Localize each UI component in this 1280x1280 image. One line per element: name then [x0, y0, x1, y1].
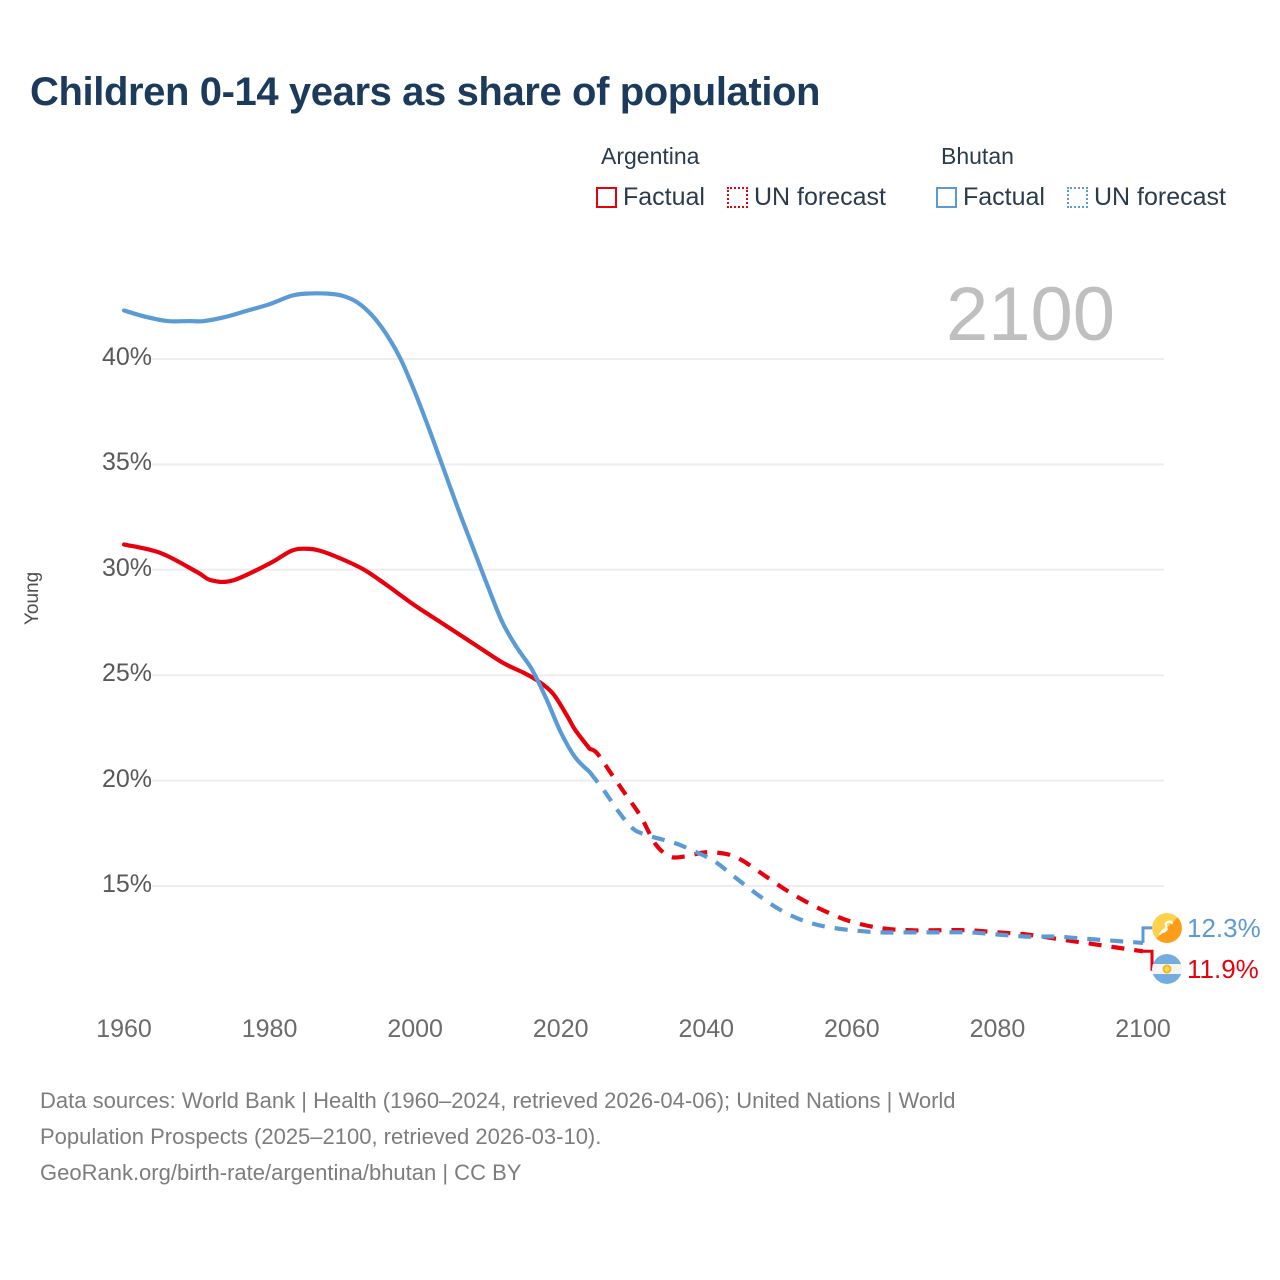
- gridlines: [152, 359, 1164, 886]
- x-axis-tick-label: 2100: [1115, 1015, 1171, 1044]
- footer-line-2: Population Prospects (2025–2100, retriev…: [40, 1119, 1240, 1155]
- y-axis-title: Young: [22, 525, 44, 625]
- chart-container: Children 0-14 years as share of populati…: [0, 0, 1280, 1280]
- argentina-flag-icon: [1152, 954, 1182, 984]
- end-label-bhutan: 12.3%: [1152, 913, 1261, 943]
- y-axis-tick-label: 30%: [102, 554, 152, 583]
- end-label-argentina: 11.9%: [1152, 954, 1259, 984]
- end-value-bhutan: 12.3%: [1187, 915, 1261, 941]
- series-line-factual-argentina: [124, 545, 590, 749]
- x-axis-tick-label: 1960: [96, 1015, 152, 1044]
- x-axis-tick-label: 1980: [242, 1015, 298, 1044]
- y-axis-tick-label: 35%: [102, 448, 152, 477]
- series-bhutan: [124, 293, 1143, 943]
- end-value-argentina: 11.9%: [1187, 956, 1259, 982]
- x-axis-tick-label: 2080: [970, 1015, 1026, 1044]
- series-line-factual-bhutan: [124, 293, 590, 772]
- footer-line-1: Data sources: World Bank | Health (1960–…: [40, 1083, 1240, 1119]
- y-axis-tick-label: 25%: [102, 659, 152, 688]
- series-argentina: [124, 545, 1143, 952]
- y-axis-tick-label: 20%: [102, 765, 152, 794]
- x-axis-tick-label: 2060: [824, 1015, 880, 1044]
- y-axis-tick-label: 40%: [102, 343, 152, 372]
- footer-line-3[interactable]: GeoRank.org/birth-rate/argentina/bhutan …: [40, 1155, 1240, 1191]
- x-axis-tick-label: 2000: [387, 1015, 443, 1044]
- series-line-forecast-argentina: [590, 749, 1143, 951]
- x-axis-tick-label: 2020: [533, 1015, 589, 1044]
- x-axis-tick-label: 2040: [678, 1015, 734, 1044]
- bhutan-flag-icon: [1152, 913, 1182, 943]
- y-axis-tick-label: 15%: [102, 870, 152, 899]
- footer-credits: Data sources: World Bank | Health (1960–…: [40, 1083, 1240, 1191]
